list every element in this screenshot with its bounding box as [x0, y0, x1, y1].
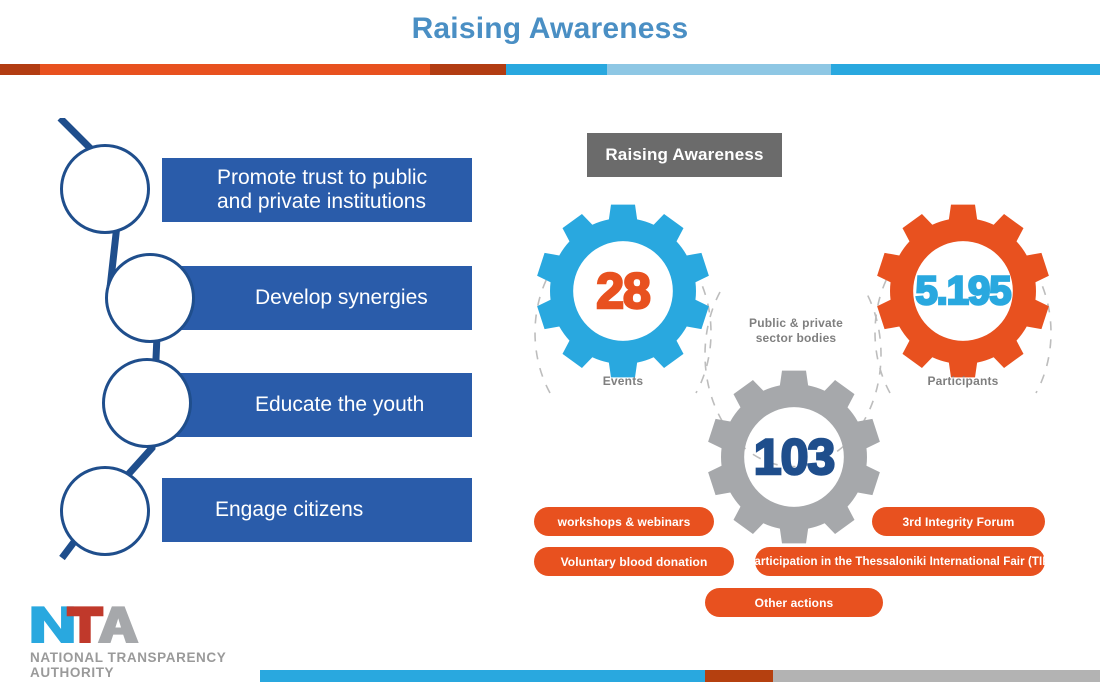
top-decorative-bar [0, 64, 1100, 75]
bullet-bar-3[interactable]: Educate the youth [162, 373, 472, 437]
pill-integrity-forum[interactable]: 3rd Integrity Forum [872, 507, 1045, 536]
topbar-segment-orange [40, 64, 430, 75]
gear-events-label: Events [558, 374, 688, 388]
botbar-segment-dark-orange [705, 670, 773, 682]
bullet-circle-2 [105, 253, 195, 343]
gear-participants[interactable]: 5.195 [874, 202, 1052, 380]
slide-root: Raising Awareness Promote trust to publi… [0, 0, 1100, 688]
pill-other-actions[interactable]: Other actions [705, 588, 883, 617]
bullet-bar-1[interactable]: Promote trust to publicand private insti… [162, 158, 472, 222]
bullet-label-3: Educate the youth [255, 393, 424, 417]
gear-bodies[interactable]: 103 [705, 368, 883, 546]
botbar-segment-cyan [260, 670, 705, 682]
infographic-heading: Raising Awareness [587, 133, 782, 177]
topbar-segment-cyan-2 [831, 64, 1100, 75]
logo-name: NATIONAL TRANSPARENCY AUTHORITY [30, 650, 286, 680]
gear-events[interactable]: 28 [534, 202, 712, 380]
pill-blood-donation[interactable]: Voluntary blood donation [534, 547, 734, 576]
gear-bodies-label-line1: Public & private [749, 316, 843, 330]
bullet-list: Promote trust to publicand private insti… [52, 118, 472, 568]
gear-participants-label: Participants [898, 374, 1028, 388]
page-title: Raising Awareness [0, 12, 1100, 46]
logo: NATIONAL TRANSPARENCY AUTHORITY [26, 600, 286, 672]
topbar-segment-cyan [506, 64, 607, 75]
bullet-label-1: Promote trust to publicand private insti… [217, 166, 427, 214]
pill-thessaloniki-fair[interactable]: Participation in the Thessaloniki Intern… [755, 547, 1045, 576]
bullet-label-4: Engage citizens [215, 498, 363, 522]
gear-bodies-label: Public & private sector bodies [728, 316, 864, 346]
bullet-bar-2[interactable]: Develop synergies [162, 266, 472, 330]
bullet-bar-4[interactable]: Engage citizens [162, 478, 472, 542]
gear-events-shape [534, 202, 712, 380]
infographic: Raising Awareness 28 Events 5.195 [520, 110, 1090, 630]
pill-workshops[interactable]: workshops & webinars [534, 507, 714, 536]
gear-bodies-shape [705, 368, 883, 546]
topbar-segment-light-blue [607, 64, 831, 75]
gear-bodies-label-line2: sector bodies [756, 331, 837, 345]
topbar-segment-dark-orange [0, 64, 40, 75]
gear-participants-shape [874, 202, 1052, 380]
bullet-circle-4 [60, 466, 150, 556]
topbar-segment-dark-orange-2 [430, 64, 506, 75]
bullet-circle-1 [60, 144, 150, 234]
botbar-segment-gray [773, 670, 1100, 682]
nta-logo-mark [30, 600, 150, 648]
bullet-circle-3 [102, 358, 192, 448]
bullet-label-2: Develop synergies [255, 286, 428, 310]
